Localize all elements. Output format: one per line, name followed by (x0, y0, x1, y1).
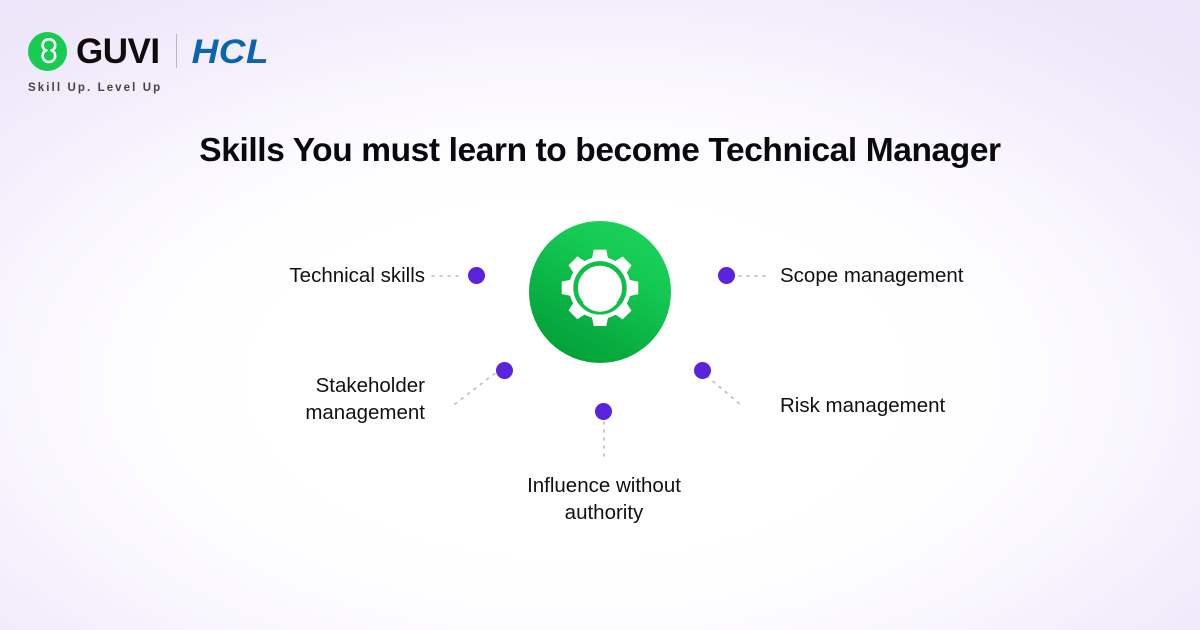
node-dot-influence-without-authority[interactable] (595, 403, 612, 420)
node-dot-risk-management[interactable] (694, 362, 711, 379)
node-label-stakeholder-management: Stakeholder management (150, 372, 425, 427)
user-gear-icon (554, 246, 646, 338)
node-dot-technical-skills[interactable] (468, 267, 485, 284)
node-label-influence-without-authority: Influence without authority (454, 472, 754, 527)
connector-stakeholder (455, 371, 498, 404)
hub-circle (529, 221, 671, 363)
node-label-scope-management: Scope management (780, 262, 1080, 289)
node-label-risk-management: Risk management (780, 392, 1080, 419)
node-dot-scope-management[interactable] (718, 267, 735, 284)
skills-diagram: Technical skills Scope management Stakeh… (0, 0, 1200, 630)
infographic-canvas: GUVI HCL Skill Up. Level Up Skills You m… (0, 0, 1200, 630)
node-dot-stakeholder-management[interactable] (496, 362, 513, 379)
node-label-technical-skills: Technical skills (180, 262, 425, 289)
